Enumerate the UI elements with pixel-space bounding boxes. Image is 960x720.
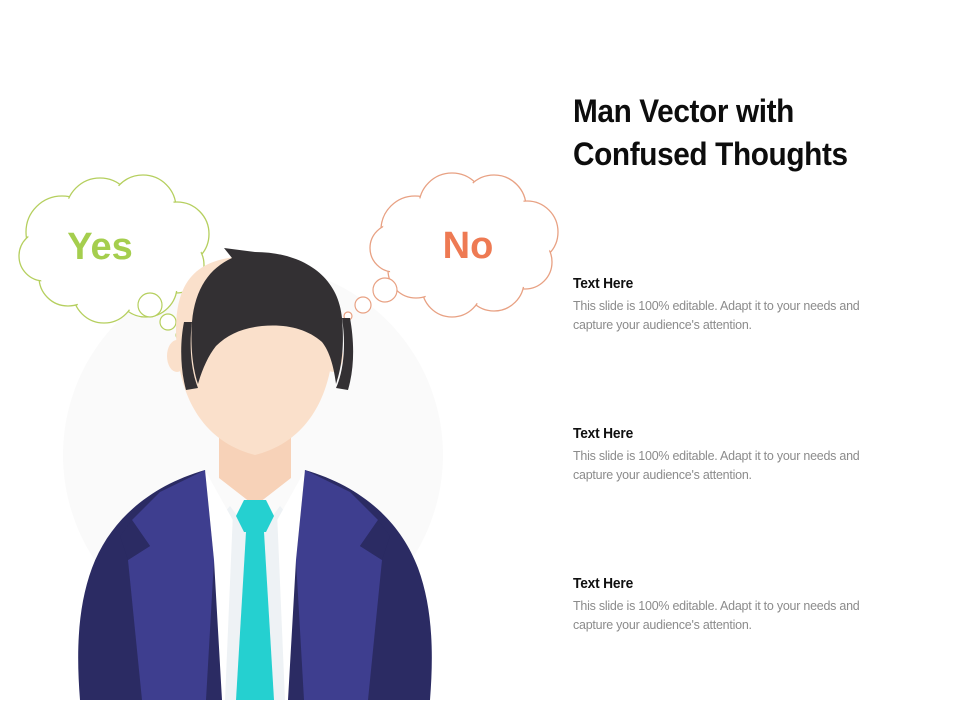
page-title: Man Vector with Confused Thoughts	[573, 90, 913, 175]
illustration-panel: Yes	[0, 0, 560, 720]
content-panel: Man Vector with Confused Thoughts Text H…	[573, 0, 943, 720]
text-block-3-body: This slide is 100% editable. Adapt it to…	[573, 597, 890, 634]
page-title-line-2: Confused Thoughts	[573, 136, 848, 172]
text-block-1-body: This slide is 100% editable. Adapt it to…	[573, 297, 890, 334]
text-block-2-heading: Text Here	[573, 426, 887, 443]
text-block-3-heading: Text Here	[573, 576, 887, 593]
text-block-1: Text Here This slide is 100% editable. A…	[573, 276, 903, 334]
text-block-2-body: This slide is 100% editable. Adapt it to…	[573, 447, 890, 484]
text-block-1-heading: Text Here	[573, 276, 887, 293]
tie-knot	[236, 500, 274, 532]
text-block-3: Text Here This slide is 100% editable. A…	[573, 576, 903, 634]
no-bubble-label: No	[443, 225, 494, 267]
yes-bubble-label: Yes	[67, 226, 133, 268]
no-thought-bubble: No	[344, 173, 558, 320]
text-block-2: Text Here This slide is 100% editable. A…	[573, 426, 903, 484]
page-title-line-1: Man Vector with	[573, 93, 794, 129]
man-vector-graphic: Yes	[0, 0, 560, 720]
slide-canvas: Yes	[0, 0, 960, 720]
